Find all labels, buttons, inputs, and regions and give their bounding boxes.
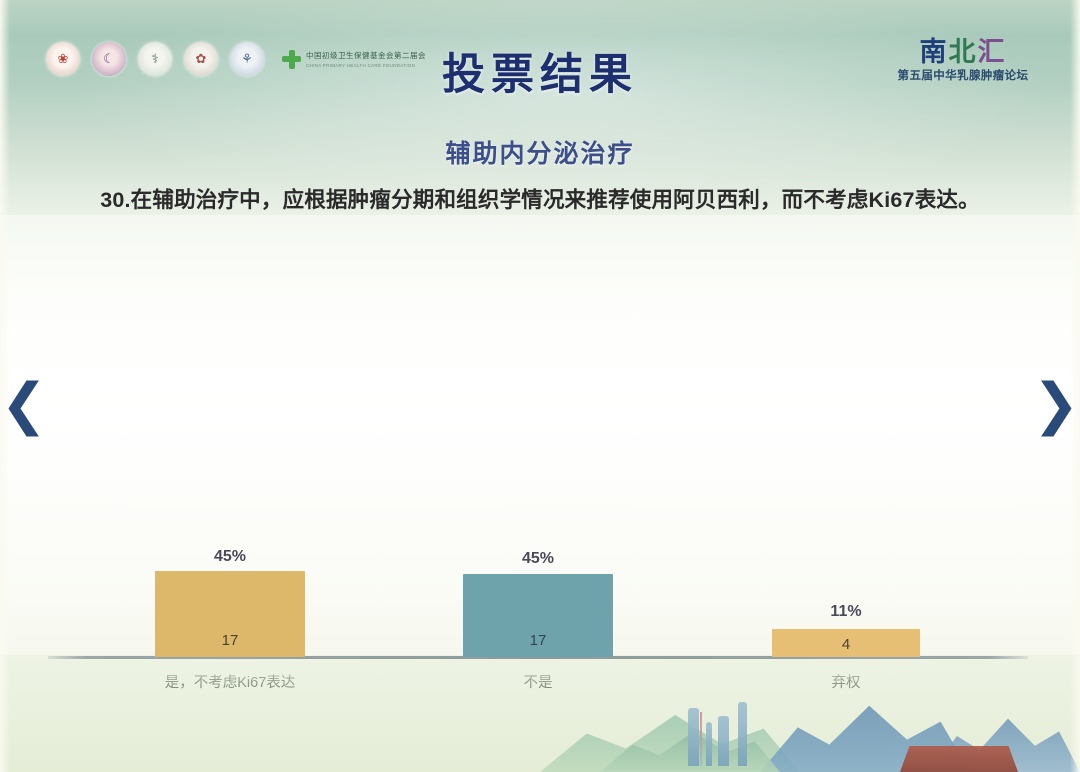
bar-2[interactable]: 17 xyxy=(463,574,613,657)
bar-value-3: 4 xyxy=(772,636,920,653)
left-edge-vignette xyxy=(0,0,10,772)
bar-percent-3: 11% xyxy=(772,603,920,621)
page-subtitle: 辅助内分泌治疗 xyxy=(0,134,1080,170)
decorative-landscape xyxy=(0,662,1080,772)
bar-percent-2: 45% xyxy=(463,550,613,568)
slide-root: ❀ ☾ ⚕ ✿ ⚘ 中国初级卫生保健基金会第二届会 CHINA PRIMARY … xyxy=(0,0,1080,772)
bar-1[interactable]: 17 xyxy=(155,571,305,657)
landscape-haze-overlay xyxy=(0,662,1080,772)
bar-value-2: 17 xyxy=(463,632,613,649)
page-title: 投票结果 xyxy=(0,40,1080,102)
bar-percent-1: 45% xyxy=(155,548,305,566)
right-edge-vignette xyxy=(1070,0,1080,772)
bar-value-1: 17 xyxy=(155,632,305,649)
bar-3[interactable]: 4 xyxy=(772,629,920,657)
previous-slide-arrow-icon[interactable]: ❮ xyxy=(4,374,44,436)
question-text: 30.在辅助治疗中，应根据肿瘤分期和组织学情况来推荐使用阿贝西利，而不考虑Ki6… xyxy=(0,183,1080,214)
